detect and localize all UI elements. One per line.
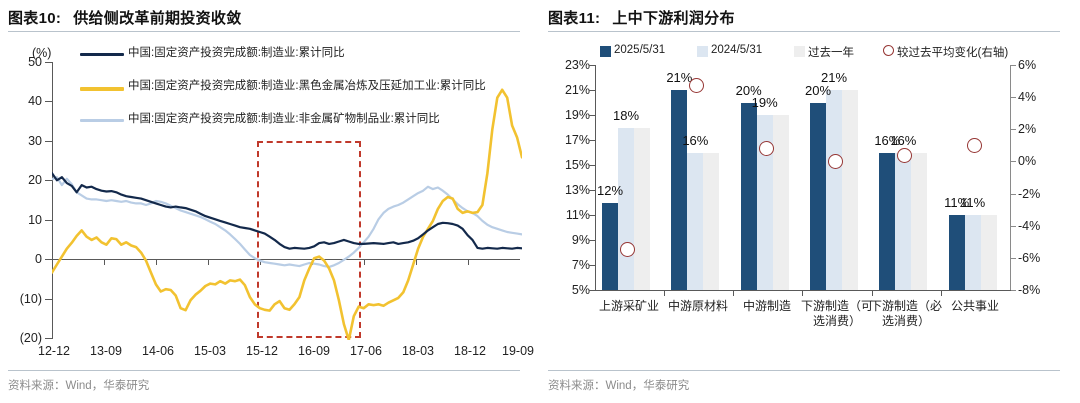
y2-tick-4: 4%: [1018, 90, 1062, 104]
y2-tick-n6: -6%: [1018, 251, 1062, 265]
bar-0: [949, 215, 965, 290]
bar-value-label: 16%: [677, 133, 713, 148]
change-marker-icon: [689, 78, 704, 93]
x-category-upstream-mining: 上游采矿业: [593, 299, 665, 314]
y-tick-left-0: 0: [4, 252, 42, 266]
y-tick-right-5: 5%: [546, 283, 590, 297]
y2-tick-2: 2%: [1018, 122, 1062, 136]
y-tick-right-15: 15%: [546, 158, 590, 172]
source-note-right: 资料来源：Wind，华泰研究: [548, 377, 689, 393]
figure-panel-left: 图表10:供给侧改革前期投资收敛 (%) 中国:固定资产投资完成额:制造业:累计…: [0, 0, 540, 403]
y-axis-tick: [45, 220, 52, 221]
y-tick-left-50: 50: [4, 55, 42, 69]
x-tick-15-12: 15-12: [234, 344, 290, 358]
y-tick-right-21: 21%: [546, 83, 590, 97]
line-series: [52, 173, 522, 249]
legend-label-2024: 2024/5/31: [711, 44, 762, 56]
x-tick-15-03: 15-03: [182, 344, 238, 358]
x-category-mid-raw-material: 中游原材料: [662, 299, 734, 314]
y-axis-tick: [45, 299, 52, 300]
x-axis-tick: [872, 290, 873, 296]
y-tick-right-9: 9%: [546, 233, 590, 247]
bar-value-label: 12%: [592, 183, 628, 198]
y-axis-tick: [45, 338, 52, 339]
footer-divider-left: [8, 370, 520, 371]
source-note-left: 资料来源：Wind，华泰研究: [8, 377, 149, 393]
x-tick-14-06: 14-06: [130, 344, 186, 358]
x-tick-17-06: 17-06: [338, 344, 394, 358]
x-axis-tick: [664, 290, 665, 296]
line-chart-canvas-left: [52, 62, 522, 340]
bar-0: [671, 90, 687, 290]
x-tick-18-03: 18-03: [390, 344, 446, 358]
y-tick-right-23: 23%: [546, 58, 590, 72]
y-tick-left-30: 30: [4, 134, 42, 148]
y-axis-tick: [45, 62, 52, 63]
x-axis-tick: [941, 290, 942, 296]
x-tick-19-09: 19-09: [490, 344, 546, 358]
y2-tick-n4: -4%: [1018, 219, 1062, 233]
bar-2: [703, 153, 719, 291]
x-category-down-staples: 下游制造（必选消费）: [870, 299, 942, 329]
bar-chart-plot-area: 12%18%21%16%20%19%20%21%16%16%11%11%: [595, 65, 1011, 290]
y-tick-right-19: 19%: [546, 108, 590, 122]
bar-2: [911, 153, 927, 291]
legend-label-manufacturing: 中国:固定资产投资完成额:制造业:累计同比: [128, 46, 528, 61]
bar-0: [602, 203, 618, 291]
bar-1: [826, 90, 842, 290]
change-marker-icon: [828, 154, 843, 169]
page-title-right: 图表11:上中下游利润分布: [548, 7, 1060, 31]
x-category-mid-manufacturing: 中游制造: [731, 299, 803, 314]
line-series: [52, 177, 522, 267]
bar-1: [618, 128, 634, 291]
title-divider-left: [8, 31, 520, 32]
x-axis-tick: [733, 290, 734, 296]
y-tick-left-10: 10: [4, 213, 42, 227]
bar-2: [842, 90, 858, 290]
legend-swatch-past-year: [794, 46, 805, 57]
y-tick-left-20: 20: [4, 173, 42, 187]
bar-2: [773, 115, 789, 290]
x-category-down-discretionary: 下游制造（可选消费）: [801, 299, 873, 329]
legend-label-change: 较过去平均变化(右轴): [897, 44, 1008, 60]
y-tick-right-17: 17%: [546, 133, 590, 147]
title-divider-right: [548, 31, 1060, 32]
bar-1: [965, 215, 981, 290]
y-tick-left-n20: (20): [0, 331, 42, 345]
y-tick-left-40: 40: [4, 94, 42, 108]
legend-marker-change-icon: [883, 45, 894, 56]
bar-1: [895, 153, 911, 291]
bar-value-label: 11%: [955, 195, 991, 210]
change-marker-icon: [967, 138, 982, 153]
bar-0: [879, 153, 895, 291]
y-axis-tick: [45, 259, 52, 260]
bar-value-label: 19%: [747, 95, 783, 110]
y-axis-tick: [45, 141, 52, 142]
y2-tick-6: 6%: [1018, 58, 1062, 72]
footer-divider-right: [548, 370, 1060, 371]
figure-pair-page: 图表10:供给侧改革前期投资收敛 (%) 中国:固定资产投资完成额:制造业:累计…: [0, 0, 1080, 403]
legend-label-2025: 2025/5/31: [614, 44, 665, 56]
y-tick-right-13: 13%: [546, 183, 590, 197]
change-marker-icon: [897, 148, 912, 163]
y-tick-right-7: 7%: [546, 258, 590, 272]
y2-tick-n2: -2%: [1018, 187, 1062, 201]
y2-tick-0: 0%: [1018, 154, 1062, 168]
x-axis-tick: [802, 290, 803, 296]
bar-0: [810, 103, 826, 291]
legend-swatch-2024: [697, 46, 708, 57]
legend-swatch-manufacturing: [80, 53, 124, 56]
bar-value-label: 18%: [608, 108, 644, 123]
bar-2: [981, 215, 997, 290]
figure-caption-left: 供给侧改革前期投资收敛: [73, 10, 241, 27]
figure-number-left: 图表10:: [8, 10, 61, 27]
figure-caption-right: 上中下游利润分布: [612, 10, 734, 27]
x-tick-12-12: 12-12: [26, 344, 82, 358]
y-tick-right-11: 11%: [546, 208, 590, 222]
y-axis-tick: [45, 101, 52, 102]
y2-tick-n8: -8%: [1018, 283, 1062, 297]
y-axis-tick: [45, 180, 52, 181]
legend-swatch-2025: [600, 46, 611, 57]
x-tick-16-09: 16-09: [286, 344, 342, 358]
bar-2: [634, 128, 650, 291]
figure-panel-right: 图表11:上中下游利润分布 2025/5/31 2024/5/31 过去一年 较…: [540, 0, 1080, 403]
figure-number-right: 图表11:: [548, 10, 600, 27]
page-title-left: 图表10:供给侧改革前期投资收敛: [8, 7, 520, 31]
bar-value-label: 16%: [885, 133, 921, 148]
line-series: [52, 90, 522, 340]
legend-label-past-year: 过去一年: [808, 44, 854, 60]
x-category-utilities: 公共事业: [939, 299, 1011, 314]
bar-value-label: 21%: [816, 70, 852, 85]
bar-1: [687, 153, 703, 291]
x-tick-13-09: 13-09: [78, 344, 134, 358]
change-marker-icon: [759, 141, 774, 156]
y-tick-left-n10: (10): [0, 292, 42, 306]
bar-0: [741, 103, 757, 291]
